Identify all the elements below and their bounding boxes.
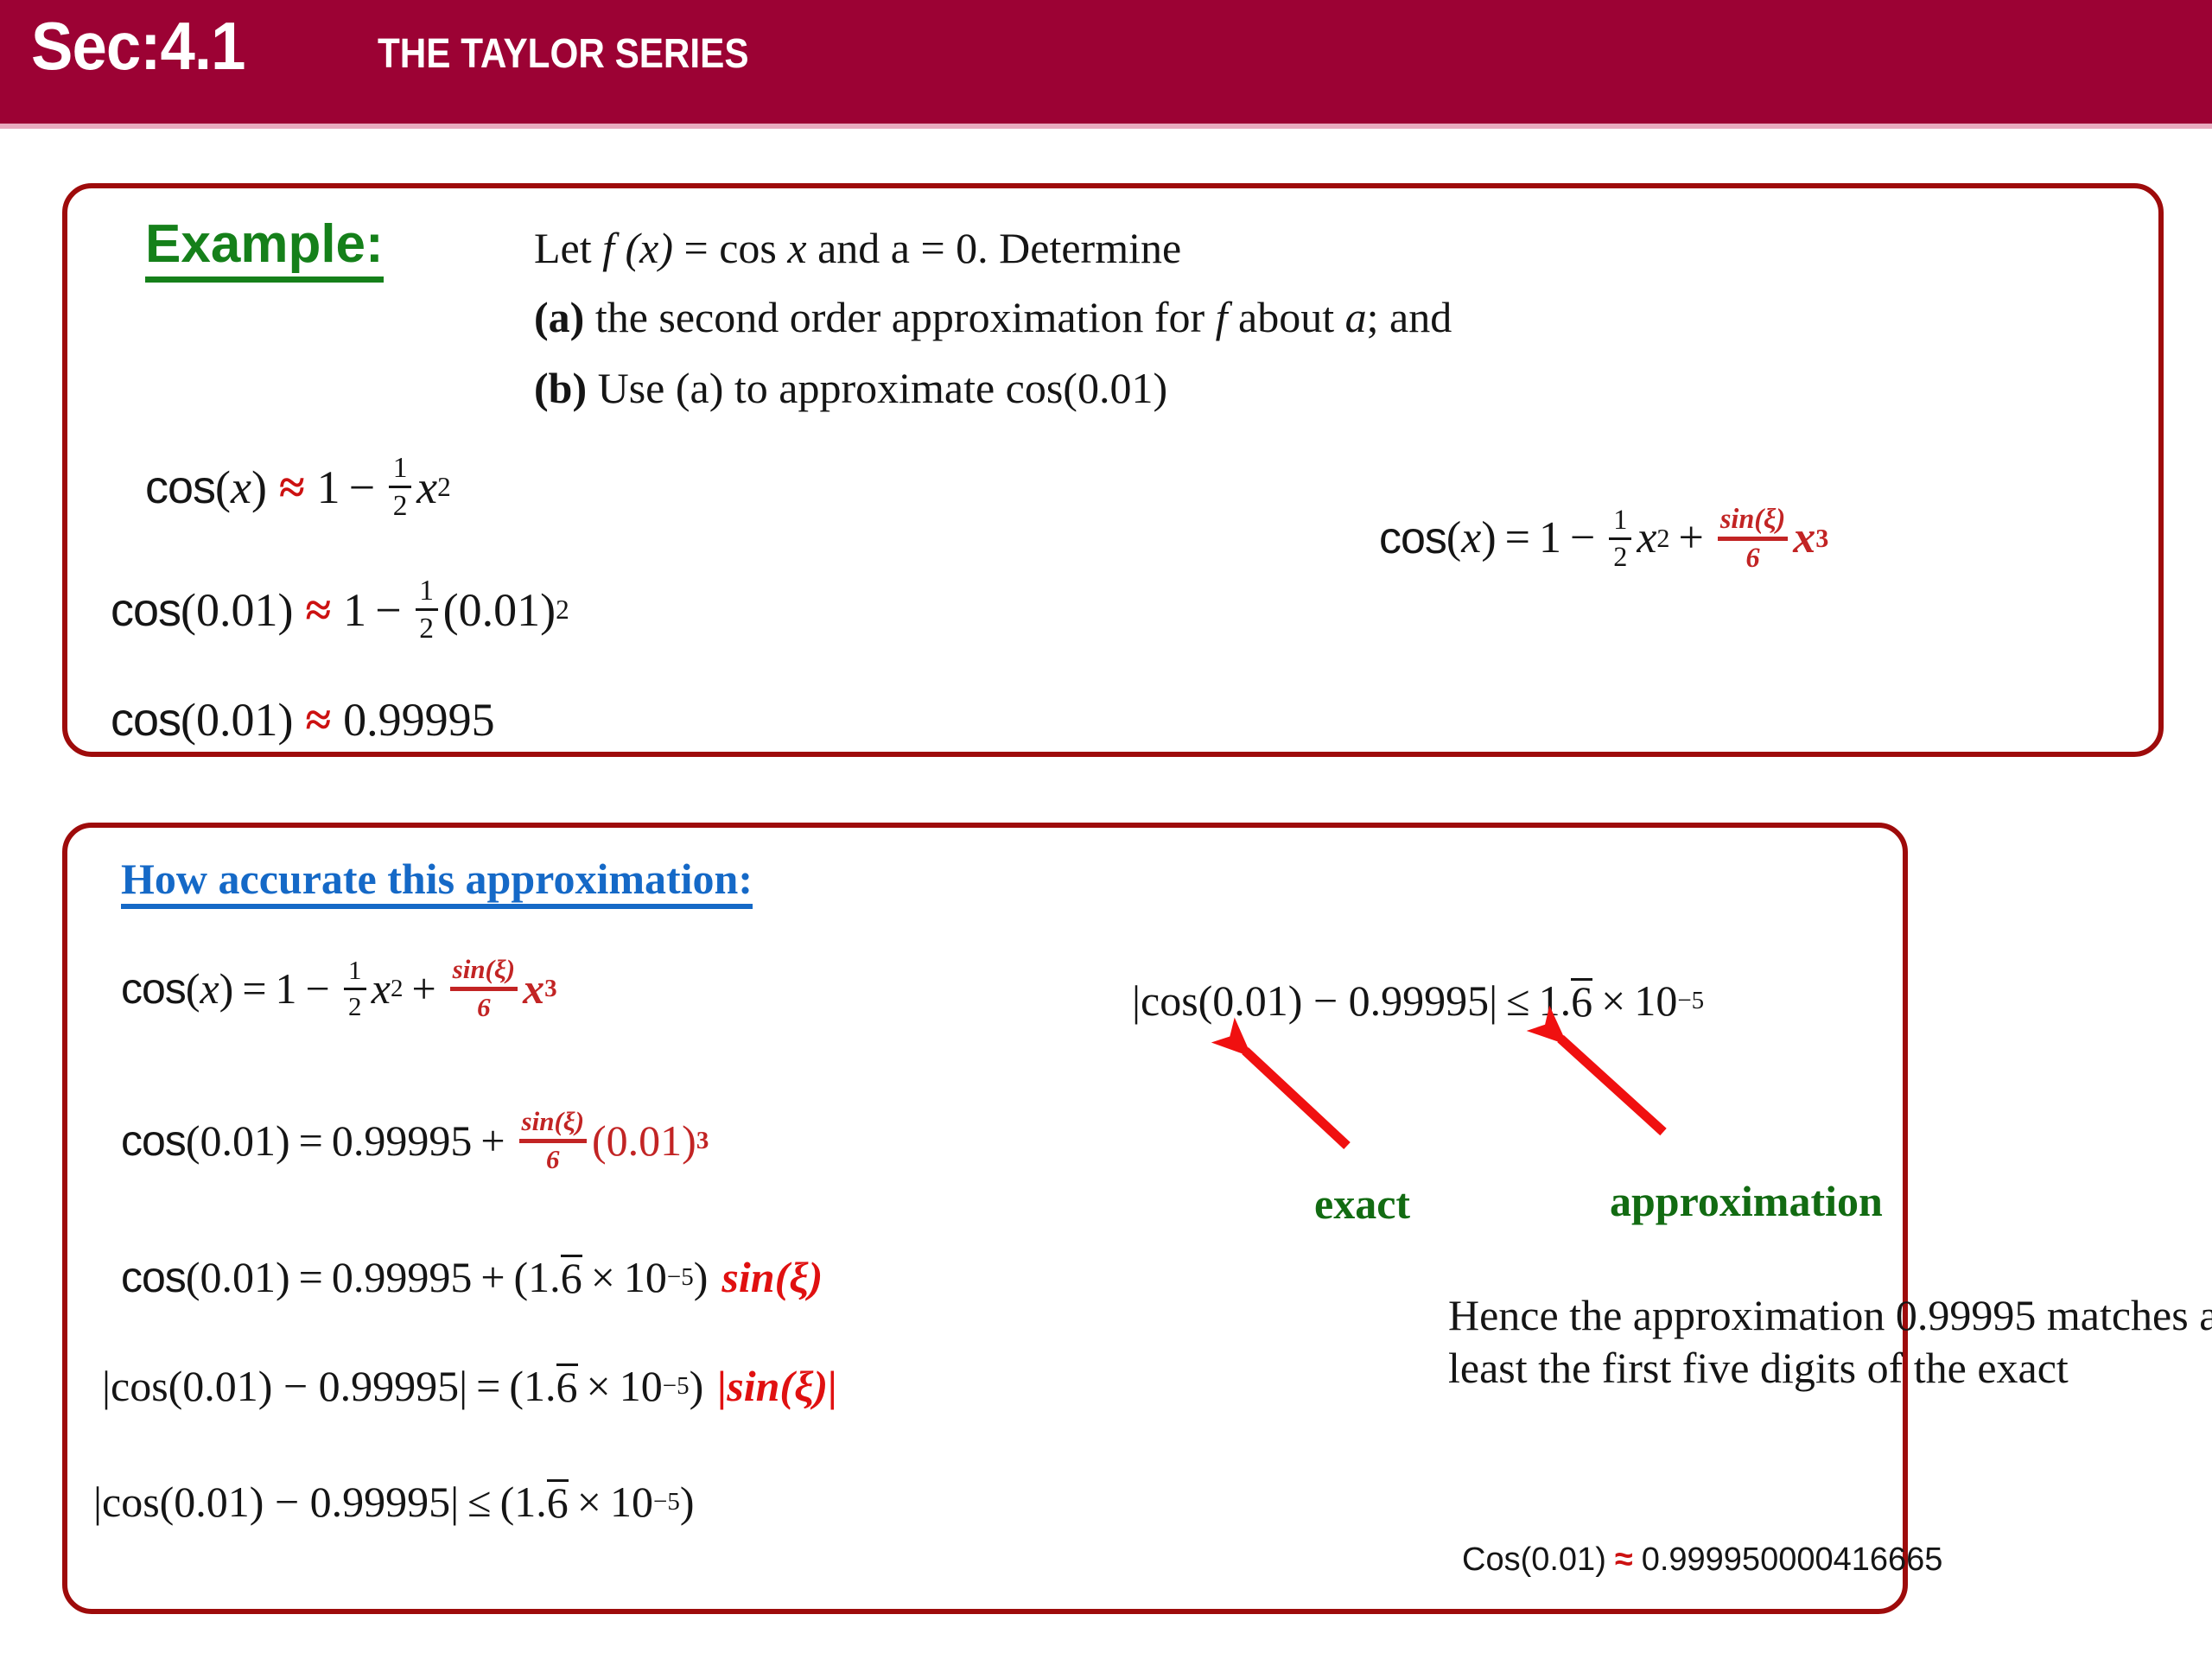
a3-repeating-digit: 6	[561, 1255, 582, 1300]
a5-repeating-digit: 6	[547, 1479, 569, 1524]
eqr-relation: =	[1505, 516, 1530, 561]
exact-value-fn: Cos(0.01)	[1462, 1543, 1606, 1576]
exact-value-readout: Cos(0.01) ≈ 0.999950000416665	[1462, 1543, 1942, 1576]
eq1-relation: ≈	[279, 464, 305, 511]
a2-relation: =	[299, 1119, 323, 1162]
eqr-frac-numerator: 1	[1611, 505, 1630, 535]
a5-relation: ≤	[467, 1480, 491, 1523]
a2-remainder-bar	[519, 1139, 588, 1143]
a3-relation: =	[299, 1255, 323, 1299]
eq1-minus: −	[349, 464, 375, 511]
example-label: Example:	[145, 218, 384, 283]
annotation-label-exact: exact	[1314, 1182, 1410, 1225]
a1-frac-bar	[344, 988, 366, 990]
eqr-remainder-bar	[1718, 537, 1788, 541]
equation-cos-001-approx: cos(0.01) ≈ 1 − 1 2 (0.01)2	[111, 575, 569, 644]
exact-value-relation: ≈	[1615, 1543, 1633, 1576]
bound-relation: ≤	[1506, 979, 1529, 1022]
accuracy-equation-line-3: cos(0.01) = 0.99995 + (1.6 × 10−5) sin(ξ…	[121, 1255, 823, 1300]
a1-remainder-denominator: 6	[474, 994, 493, 1022]
exact-value-number: 0.999950000416665	[1642, 1543, 1943, 1576]
eq2-fn: cos	[111, 587, 181, 633]
eqr-arg: x	[1461, 516, 1481, 561]
a2-value: 0.99995	[332, 1119, 473, 1162]
eq3-arg: 0.01	[196, 696, 278, 743]
problem-statement-line-3: (b) Use (a) to approximate cos(0.01)	[534, 366, 1167, 410]
eq2-frac-denominator: 2	[416, 613, 436, 644]
accuracy-equation-line-2: cos(0.01) = 0.99995 + sin(ξ) 6 (0.01)3	[121, 1108, 709, 1173]
a3-times: ×	[591, 1255, 615, 1299]
a2-arg: 0.01	[200, 1119, 276, 1162]
eqr-plus: +	[1679, 516, 1704, 561]
a5-base: 10	[610, 1480, 653, 1523]
a1-relation: =	[242, 967, 266, 1010]
a1-fraction: 1 2	[344, 957, 366, 1020]
a1-plus: +	[411, 967, 435, 1010]
a1-minus: −	[306, 967, 330, 1010]
eqr-frac-bar	[1609, 537, 1631, 540]
eqr-fraction: 1 2	[1609, 505, 1631, 572]
a3-plus: +	[480, 1255, 505, 1299]
accuracy-equation-line-1: cos(x) = 1 − 1 2 x2 + sin(ξ) 6 x3	[121, 956, 557, 1021]
a4-base: 10	[620, 1364, 663, 1408]
bound-value-prefix: 1.	[1539, 979, 1572, 1022]
bound-lhs: |cos(0.01) − 0.99995|	[1132, 979, 1497, 1022]
bound-times: ×	[1601, 979, 1625, 1022]
accuracy-heading: How accurate this approximation:	[121, 857, 753, 909]
eqr-minus: −	[1570, 516, 1595, 561]
a4-lhs: |cos(0.01) − 0.99995|	[102, 1364, 467, 1408]
a4-paren-close: )	[690, 1364, 704, 1408]
a3-paren-close: )	[694, 1255, 709, 1299]
conclusion-text: Hence the approximation 0.99995 matches …	[1448, 1289, 2212, 1395]
a1-remainder-bar	[450, 987, 518, 991]
eqr-variable: x	[1637, 516, 1656, 561]
a2-fn: cos	[121, 1119, 186, 1162]
a3-base: 10	[624, 1255, 667, 1299]
eq2-fraction: 1 2	[416, 575, 438, 644]
eq1-arg: x	[231, 464, 251, 511]
eq2-one: 1	[343, 587, 366, 633]
a1-fn: cos	[121, 967, 186, 1010]
eq1-frac-numerator: 1	[391, 453, 410, 483]
a3-sin-term: sin(ξ)	[721, 1255, 823, 1299]
eqr-one: 1	[1539, 516, 1561, 561]
eq1-fn: cos	[145, 464, 215, 511]
header-title: THE TAYLOR SERIES	[378, 34, 749, 75]
a2-remainder-denominator: 6	[543, 1146, 563, 1174]
a3-value: 0.99995	[332, 1255, 473, 1299]
eq3-relation: ≈	[306, 696, 332, 743]
a5-times: ×	[577, 1480, 601, 1523]
a3-paren-open: (1.	[514, 1255, 561, 1299]
eqr-remainder-denominator: 6	[1743, 543, 1762, 573]
eqr-frac-denominator: 2	[1611, 543, 1630, 572]
eq2-relation: ≈	[306, 587, 332, 633]
a1-frac-denominator: 2	[346, 993, 365, 1021]
a2-remainder-fraction: sin(ξ) 6	[519, 1108, 588, 1173]
problem-statement-line-1: Let f (x) = cos x and a = 0. Determine	[534, 226, 1181, 270]
bound-repeating-digit: 6	[1571, 978, 1592, 1023]
a1-remainder-fraction: sin(ξ) 6	[450, 956, 518, 1021]
a1-one: 1	[276, 967, 297, 1010]
a5-paren-close: )	[680, 1480, 695, 1523]
a5-lhs: |cos(0.01) − 0.99995|	[93, 1480, 459, 1523]
header-section-number: Sec:4.1	[31, 12, 245, 79]
a1-remainder-numerator: sin(ξ)	[450, 956, 518, 984]
a4-times: ×	[587, 1364, 611, 1408]
a1-arg: x	[200, 967, 219, 1010]
accuracy-equation-line-4: |cos(0.01) − 0.99995| = (1.6 × 10−5) |si…	[102, 1363, 837, 1408]
eqr-remainder-fraction: sin(ξ) 6	[1718, 505, 1788, 573]
a4-repeating-digit: 6	[556, 1363, 578, 1408]
header-underline-rule	[0, 124, 2212, 129]
eq2-term: (0.01)	[443, 587, 556, 633]
eqr-remainder-numerator: sin(ξ)	[1718, 505, 1788, 534]
header-banner	[0, 0, 2212, 124]
eq1-fraction: 1 2	[389, 453, 411, 521]
a4-relation: =	[476, 1364, 500, 1408]
a1-frac-numerator: 1	[346, 957, 365, 985]
eq1-variable: x	[416, 464, 437, 511]
eqr-fn: cos	[1379, 516, 1446, 561]
eq3-value: 0.99995	[343, 696, 495, 743]
eq2-frac-bar	[416, 608, 438, 611]
a1-variable: x	[372, 967, 391, 1010]
problem-statement-line-2: (a) the second order approximation for f…	[534, 296, 1452, 339]
a2-remainder-term: (0.01)	[592, 1119, 696, 1162]
equation-cos-x-exact-remainder: cos(x) = 1 − 1 2 x2 + sin(ξ) 6 x3	[1379, 505, 1828, 573]
a3-arg: 0.01	[200, 1255, 276, 1299]
accuracy-equation-line-5: |cos(0.01) − 0.99995| ≤ (1.6 × 10−5)	[93, 1479, 695, 1524]
a3-fn: cos	[121, 1255, 186, 1299]
a2-plus: +	[480, 1119, 505, 1162]
annotation-label-approximation: approximation	[1610, 1179, 1883, 1223]
eq3-fn: cos	[111, 696, 181, 743]
equation-cos-x-approx: cos(x) ≈ 1 − 1 2 x2	[145, 453, 451, 521]
a4-abs-sin-term: |sin(ξ)|	[717, 1364, 837, 1408]
eq1-frac-denominator: 2	[391, 491, 410, 521]
eq2-frac-numerator: 1	[416, 575, 436, 606]
a5-paren-open: (1.	[500, 1480, 547, 1523]
eq1-one: 1	[317, 464, 340, 511]
eqr-remainder-variable: x	[1793, 516, 1815, 561]
eq2-minus: −	[375, 587, 401, 633]
eq2-arg: 0.01	[196, 587, 278, 633]
bound-base: 10	[1634, 979, 1677, 1022]
eq1-frac-bar	[389, 486, 411, 488]
a4-paren-open: (1.	[509, 1364, 556, 1408]
equation-cos-001-result: cos(0.01) ≈ 0.99995	[111, 696, 495, 743]
accuracy-error-bound: |cos(0.01) − 0.99995| ≤ 1.6 × 10−5	[1132, 978, 1704, 1023]
a1-remainder-variable: x	[523, 967, 544, 1010]
a2-remainder-numerator: sin(ξ)	[519, 1108, 588, 1136]
